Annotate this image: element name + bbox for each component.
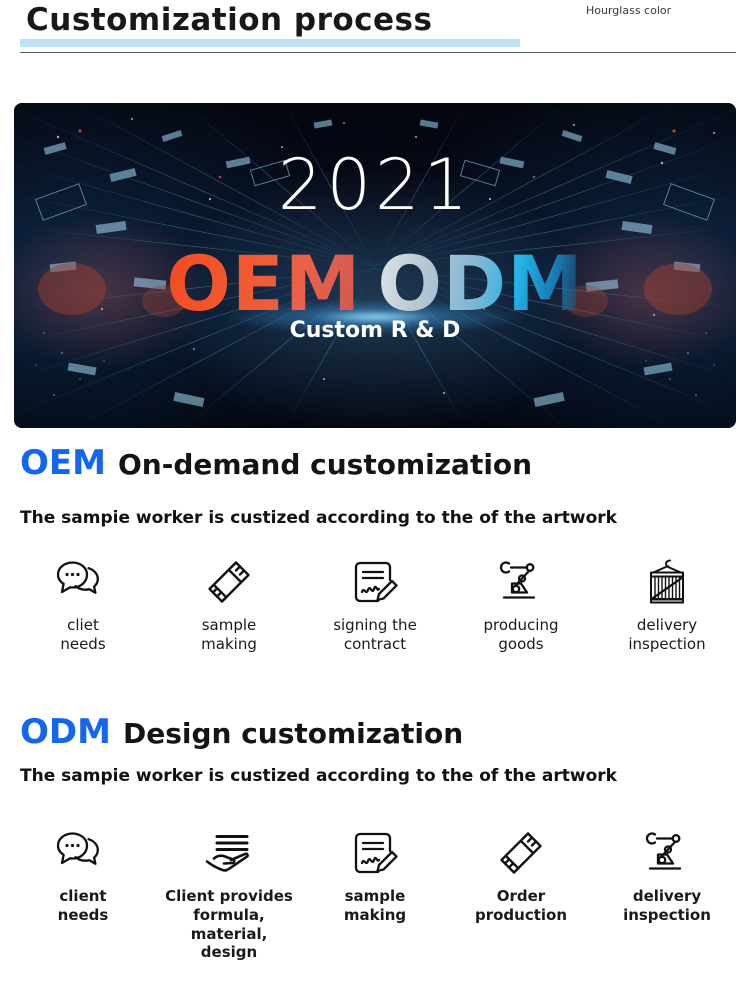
chat-bubbles-icon	[57, 828, 109, 878]
hero-banner: 2021 OEMODM Custom R & D	[14, 103, 736, 428]
banner-year: 2021	[14, 144, 736, 226]
process-step[interactable]: deliveryinspection	[598, 557, 736, 654]
section-subtitle-oem: The sampie worker is custized according …	[20, 508, 617, 528]
section-heading-odm: ODMDesign customization	[20, 712, 463, 752]
section-heading-oem: OEMOn-demand customization	[20, 443, 532, 483]
section-name-oem: On-demand customization	[118, 448, 532, 481]
robot-arm-icon	[644, 828, 690, 878]
signed-document-icon	[352, 557, 398, 607]
page-header: Customization process Hourglass color	[0, 0, 750, 70]
banner-logo-oem: OEM	[166, 239, 361, 328]
banner-logo-odm: ODM	[377, 239, 583, 328]
section-code-odm: ODM	[20, 712, 111, 752]
process-step-label: producinggoods	[483, 616, 558, 654]
process-step[interactable]: Client providesformula,material,design	[160, 828, 298, 962]
process-step[interactable]: signing thecontract	[306, 557, 444, 654]
header-divider	[20, 52, 736, 53]
process-step-label: samplemaking	[201, 616, 257, 654]
signed-document-icon	[352, 828, 398, 878]
process-step-label: clietneeds	[60, 616, 105, 654]
process-step-label: samplemaking	[344, 887, 406, 925]
process-step-label: Client providesformula,material,design	[165, 887, 293, 962]
process-steps-odm: clientneeds Client providesformula,mater…	[14, 828, 736, 962]
process-step[interactable]: clientneeds	[14, 828, 152, 925]
hand-documents-icon	[204, 828, 254, 878]
process-step-label: signing thecontract	[333, 616, 417, 654]
process-step-label: Orderproduction	[475, 887, 567, 925]
process-step[interactable]: clietneeds	[14, 557, 152, 654]
process-step[interactable]: samplemaking	[306, 828, 444, 925]
section-name-odm: Design customization	[123, 717, 463, 750]
process-step-label: deliveryinspection	[628, 616, 705, 654]
process-step[interactable]: producinggoods	[452, 557, 590, 654]
section-subtitle-odm: The sampie worker is custized according …	[20, 766, 617, 786]
process-step-label: deliveryinspection	[623, 887, 711, 925]
banner-logo: OEMODM	[14, 246, 736, 322]
robot-arm-icon	[498, 557, 544, 607]
header-note: Hourglass color	[586, 4, 671, 17]
process-step[interactable]: Orderproduction	[452, 828, 590, 925]
pencil-ruler-icon	[206, 557, 252, 607]
title-underline	[20, 39, 520, 47]
process-step-label: clientneeds	[58, 887, 109, 925]
section-code-oem: OEM	[20, 443, 106, 483]
chat-bubbles-icon	[57, 557, 109, 607]
process-step[interactable]: deliveryinspection	[598, 828, 736, 925]
pencil-ruler-icon	[498, 828, 544, 878]
crate-hook-icon	[643, 557, 691, 607]
banner-subtitle: Custom R & D	[14, 318, 736, 343]
process-steps-oem: clietneeds samplemaking signing thecontr…	[14, 557, 736, 654]
process-step[interactable]: samplemaking	[160, 557, 298, 654]
page-title: Customization process	[26, 2, 432, 38]
